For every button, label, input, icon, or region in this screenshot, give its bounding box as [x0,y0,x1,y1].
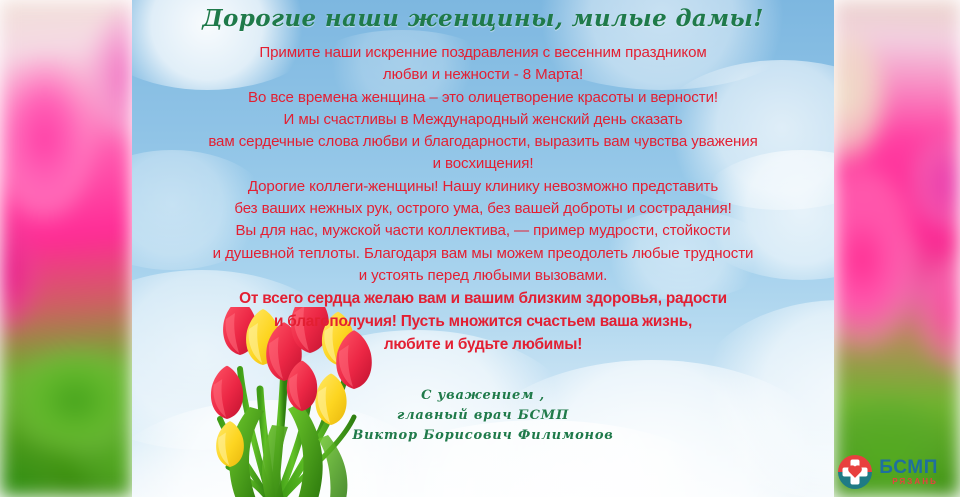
greeting-body: Примите наши искренние поздравления с ве… [132,42,834,356]
signature-block: С уважением , главный врач БСМП Виктор Б… [132,386,834,446]
greeting-line: Вы для нас, мужской части коллектива, — … [138,220,828,242]
left-floral-border [0,0,132,497]
poster-content: Дорогие наши женщины, милые дамы! Примит… [132,0,834,497]
greeting-line: и душевной теплоты. Благодаря вам мы мож… [138,243,828,265]
greeting-line: Примите наши искренние поздравления с ве… [138,42,828,64]
page-title: Дорогие наши женщины, милые дамы! [132,5,834,32]
greeting-line-emphasis: и благополучия! Пусть множится счастьем … [138,310,828,333]
signature-closing: С уважением , [132,386,834,406]
greeting-poster: Дорогие наши женщины, милые дамы! Примит… [0,0,960,497]
greeting-line: и устоять перед любыми вызовами. [138,265,828,287]
medical-cross-heart-icon [838,455,872,489]
logo-name: БСМП [879,458,938,477]
left-floral-border-image [0,0,132,497]
greeting-line: Дорогие коллеги-женщины! Нашу клинику не… [138,176,828,198]
greeting-line: без ваших нежных рук, острого ума, без в… [138,198,828,220]
greeting-line-emphasis: любите и будьте любимы! [138,333,828,356]
greeting-line: и восхищения! [138,153,828,175]
right-floral-border-image [834,0,960,497]
right-floral-border [834,0,960,497]
logo-text-group: БСМП РЯЗАНЬ [879,458,938,486]
signature-role: главный врач БСМП [132,406,834,426]
greeting-line-emphasis: От всего сердца желаю вам и вашим близки… [138,287,828,310]
greeting-line: И мы счастливы в Международный женский д… [138,109,828,131]
greeting-line: Во все времена женщина – это олицетворен… [138,87,828,109]
logo-city: РЯЗАНЬ [879,478,938,486]
greeting-line: вам сердечные слова любви и благодарност… [138,131,828,153]
greeting-line: любви и нежности - 8 Марта! [138,64,828,86]
signature-name: Виктор Борисович Филимонов [132,426,834,446]
bsmp-logo: БСМП РЯЗАНЬ [838,455,938,489]
